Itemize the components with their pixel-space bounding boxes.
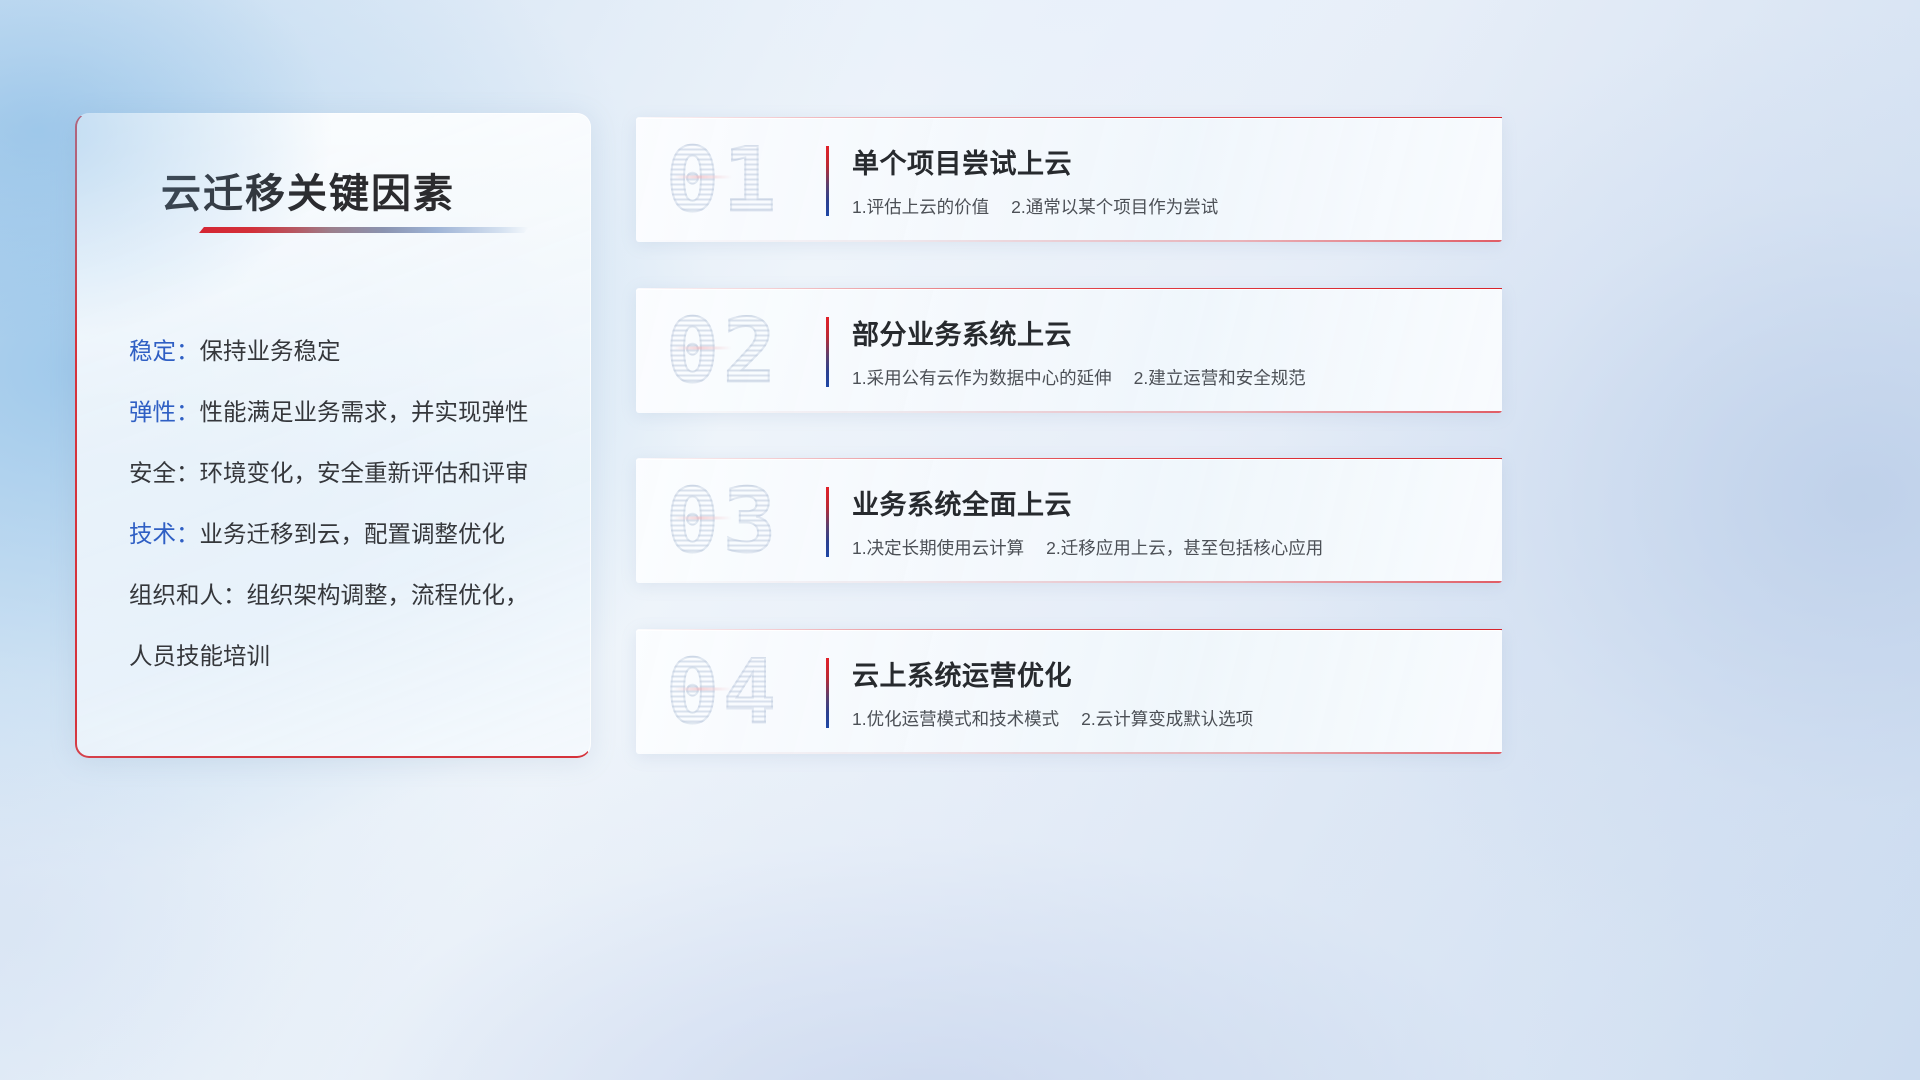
- list-item-value: 环境变化，安全重新评估和评审: [200, 460, 529, 486]
- list-item-key: 组织和人：: [129, 582, 247, 608]
- title-underline-accent: [199, 227, 529, 233]
- step-accent-bar: [826, 146, 829, 216]
- step-card-04[interactable]: 04 云上系统运营优化 1.优化运营模式和技术模式2.云计算变成默认选项: [636, 629, 1502, 754]
- list-item: 弹性：性能满足业务需求，并实现弹性: [129, 382, 566, 443]
- step-accent-bar: [826, 487, 829, 557]
- step-accent-bar: [826, 317, 829, 387]
- step-subtitle: 1.采用公有云作为数据中心的延伸2.建立运营和安全规范: [852, 365, 1484, 390]
- step-number-01: 01: [666, 129, 780, 232]
- step-point-1: 1.评估上云的价值: [852, 197, 989, 217]
- list-item-key: 安全：: [129, 460, 200, 486]
- list-item: 安全：环境变化，安全重新评估和评审: [129, 443, 566, 504]
- list-item-key: 稳定：: [129, 338, 200, 364]
- step-accent-bar: [826, 658, 829, 728]
- list-item-value: 组织架构调整，流程优化，: [247, 582, 529, 608]
- step-title: 云上系统运营优化: [852, 654, 1484, 693]
- step-number-03: 03: [666, 470, 780, 573]
- step-title: 业务系统全面上云: [852, 483, 1484, 522]
- step-number-02: 02: [666, 300, 780, 403]
- key-factors-list: 稳定：保持业务稳定 弹性：性能满足业务需求，并实现弹性 安全：环境变化，安全重新…: [129, 321, 566, 687]
- list-item: 技术：业务迁移到云，配置调整优化: [129, 504, 566, 565]
- list-item-value: 业务迁移到云，配置调整优化: [200, 521, 506, 547]
- step-content: 单个项目尝试上云 1.评估上云的价值2.通常以某个项目作为尝试: [852, 142, 1484, 219]
- list-item-key: 技术：: [129, 521, 200, 547]
- step-title: 部分业务系统上云: [852, 313, 1484, 352]
- key-factors-card: 云迁移关键因素 稳定：保持业务稳定 弹性：性能满足业务需求，并实现弹性 安全：环…: [75, 113, 591, 758]
- list-item-value: 人员技能培训: [129, 643, 270, 669]
- step-point-1: 1.采用公有云作为数据中心的延伸: [852, 368, 1112, 388]
- step-content: 业务系统全面上云 1.决定长期使用云计算2.迁移应用上云，甚至包括核心应用: [852, 483, 1484, 560]
- list-item-value: 性能满足业务需求，并实现弹性: [200, 399, 529, 425]
- step-subtitle: 1.决定长期使用云计算2.迁移应用上云，甚至包括核心应用: [852, 535, 1484, 560]
- step-point-2: 2.建立运营和安全规范: [1134, 368, 1306, 388]
- step-point-2: 2.迁移应用上云，甚至包括核心应用: [1046, 538, 1323, 558]
- step-point-1: 1.决定长期使用云计算: [852, 538, 1024, 558]
- step-subtitle: 1.评估上云的价值2.通常以某个项目作为尝试: [852, 194, 1484, 219]
- step-card-01[interactable]: 01 单个项目尝试上云 1.评估上云的价值2.通常以某个项目作为尝试: [636, 117, 1502, 242]
- step-content: 部分业务系统上云 1.采用公有云作为数据中心的延伸2.建立运营和安全规范: [852, 313, 1484, 390]
- list-item: 组织和人：组织架构调整，流程优化，: [129, 565, 566, 626]
- step-card-02[interactable]: 02 部分业务系统上云 1.采用公有云作为数据中心的延伸2.建立运营和安全规范: [636, 288, 1502, 413]
- slide-canvas: 云迁移关键因素 稳定：保持业务稳定 弹性：性能满足业务需求，并实现弹性 安全：环…: [0, 0, 1920, 1080]
- step-title: 单个项目尝试上云: [852, 142, 1484, 181]
- list-item-value: 保持业务稳定: [200, 338, 341, 364]
- step-number-04: 04: [666, 641, 780, 744]
- step-content: 云上系统运营优化 1.优化运营模式和技术模式2.云计算变成默认选项: [852, 654, 1484, 731]
- page-title: 云迁移关键因素: [161, 161, 455, 219]
- step-point-2: 2.云计算变成默认选项: [1081, 709, 1253, 729]
- step-card-03[interactable]: 03 业务系统全面上云 1.决定长期使用云计算2.迁移应用上云，甚至包括核心应用: [636, 458, 1502, 583]
- step-point-1: 1.优化运营模式和技术模式: [852, 709, 1059, 729]
- step-point-2: 2.通常以某个项目作为尝试: [1011, 197, 1218, 217]
- list-item: 稳定：保持业务稳定: [129, 321, 566, 382]
- list-item-continuation: 人员技能培训: [129, 626, 566, 687]
- list-item-key: 弹性：: [129, 399, 200, 425]
- step-subtitle: 1.优化运营模式和技术模式2.云计算变成默认选项: [852, 706, 1484, 731]
